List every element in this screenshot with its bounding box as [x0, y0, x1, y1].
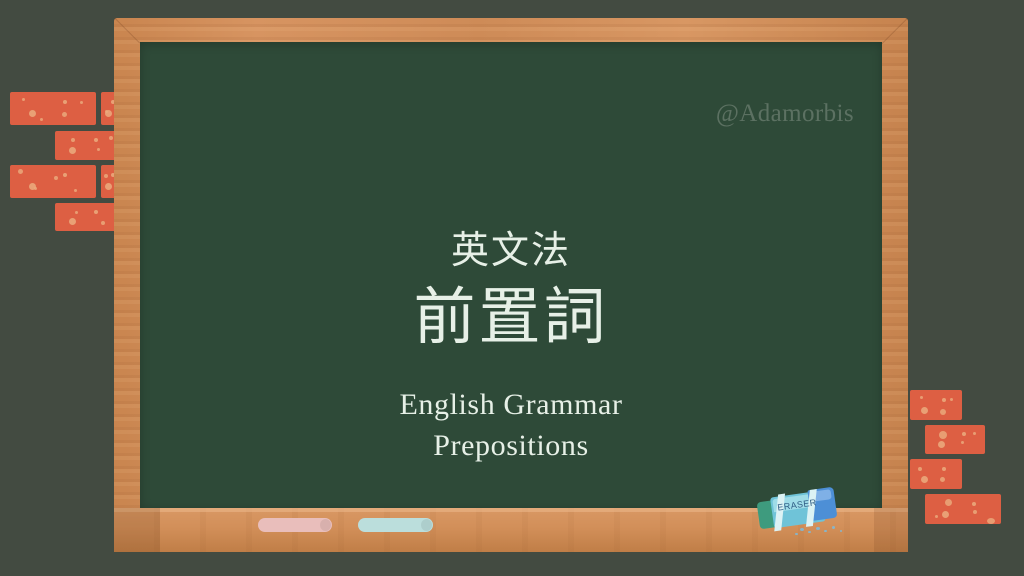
brick [10, 92, 96, 125]
brick [10, 165, 96, 198]
chalk-stick-blue[interactable] [358, 518, 433, 532]
chalkboard-surface[interactable]: @Adamorbis 英文法 前置詞 English Grammar Prepo… [140, 42, 882, 508]
frame-miter-seam [882, 18, 908, 44]
brick [910, 390, 962, 420]
english-subtitle: English Grammar Prepositions [140, 385, 882, 466]
slide-text-block: 英文法 前置詞 English Grammar Prepositions [140, 228, 882, 466]
slide-scene: @Adamorbis 英文法 前置詞 English Grammar Prepo… [0, 0, 1024, 576]
chalk-tip [421, 519, 432, 531]
watermark-handle: @Adamorbis [716, 100, 854, 128]
brick [925, 425, 985, 454]
japanese-topic-title: 前置詞 [140, 277, 882, 358]
english-subtitle-line-1: English Grammar [140, 385, 882, 426]
chalk-stick-pink[interactable] [258, 518, 332, 532]
brick [55, 131, 118, 160]
chalkboard-frame: @Adamorbis 英文法 前置詞 English Grammar Prepo… [114, 18, 908, 552]
frame-miter-seam [114, 17, 140, 43]
japanese-subject-label: 英文法 [140, 228, 882, 273]
english-subtitle-line-2: Prepositions [140, 426, 882, 467]
ledge-shadow-right [874, 508, 908, 552]
brick [910, 459, 962, 489]
brick [925, 494, 1001, 524]
brick [55, 203, 118, 231]
ledge-shadow-left [114, 508, 160, 552]
chalk-tip [320, 519, 331, 531]
